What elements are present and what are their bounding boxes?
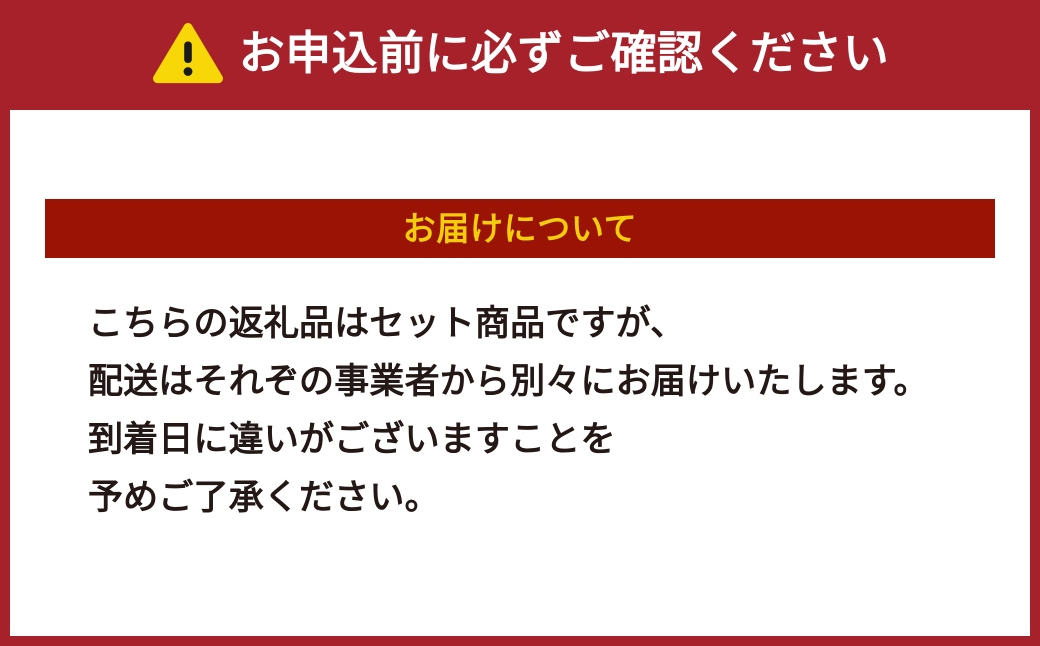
warning-triangle-icon bbox=[151, 21, 225, 85]
page-title: お申込前に必ずご確認ください bbox=[239, 30, 889, 76]
section-banner-title: お届けについて bbox=[403, 212, 638, 245]
section-banner: お届けについて bbox=[45, 199, 995, 258]
notice-line: 到着日に違いがございますことを bbox=[88, 411, 1010, 469]
notice-header: お申込前に必ずご確認ください bbox=[0, 0, 1040, 110]
notice-line: 予めご了承ください。 bbox=[88, 469, 1010, 527]
notice-line: 配送はそれぞの事業者から別々にお届けいたします。 bbox=[88, 353, 1010, 411]
notice-card: お申込前に必ずご確認ください お届けについて こちらの返礼品はセット商品ですが、… bbox=[0, 0, 1040, 646]
notice-body-panel: お届けについて こちらの返礼品はセット商品ですが、 配送はそれぞの事業者から別々… bbox=[10, 110, 1030, 636]
notice-line: こちらの返礼品はセット商品ですが、 bbox=[88, 295, 1010, 353]
notice-text-block: こちらの返礼品はセット商品ですが、 配送はそれぞの事業者から別々にお届けいたしま… bbox=[88, 295, 1010, 527]
